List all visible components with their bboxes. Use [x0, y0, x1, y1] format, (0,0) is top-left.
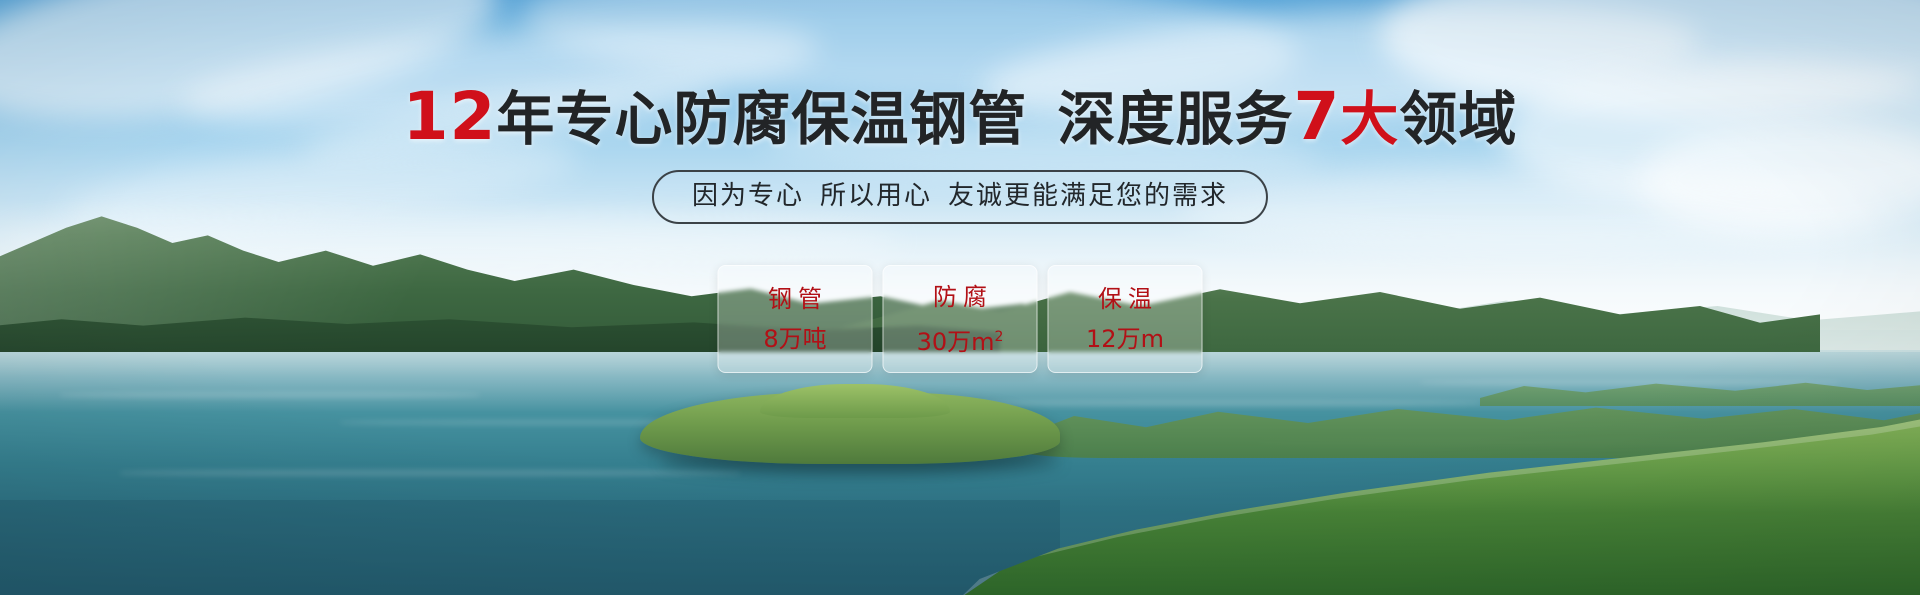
stat-card-label: 保温 [1092, 286, 1158, 312]
banner-content: 12年专心防腐保温钢管深度服务7大领域 因为专心所以用心友诚更能满足您的需求 钢… [0, 0, 1920, 595]
stat-card-insulation[interactable]: 保温 12万m [1048, 265, 1203, 373]
stat-card-value: 8万吨 [763, 326, 826, 352]
headline-years-number: 12 [403, 78, 497, 155]
stat-card-anticorrosion[interactable]: 防腐 30万m2 [883, 265, 1038, 373]
stat-card-steel-pipe[interactable]: 钢管 8万吨 [718, 265, 873, 373]
promo-banner: 12年专心防腐保温钢管深度服务7大领域 因为专心所以用心友诚更能满足您的需求 钢… [0, 0, 1920, 595]
subtitle-pill: 因为专心所以用心友诚更能满足您的需求 [652, 170, 1268, 224]
stat-card-label: 防腐 [927, 284, 993, 310]
stat-value-main: 30万m [917, 328, 995, 356]
headline-phrase-tail: 领域 [1399, 85, 1517, 153]
stat-value-main: 8万吨 [763, 325, 826, 353]
stat-value-main: 12万m [1086, 325, 1164, 353]
stat-value-exponent: 2 [995, 329, 1004, 345]
subtitle-part-2: 所以用心 [820, 181, 932, 211]
headline: 12年专心防腐保温钢管深度服务7大领域 [0, 86, 1920, 150]
stat-card-label: 钢管 [762, 286, 828, 312]
stat-card-value: 30万m2 [917, 324, 1004, 355]
stat-card-value: 12万m [1086, 326, 1164, 352]
headline-phrase-secondary: 深度服务 [1057, 85, 1293, 153]
headline-fields-number: 7 [1293, 78, 1340, 155]
headline-fields-unit: 大 [1340, 85, 1399, 153]
subtitle-part-3: 友诚更能满足您的需求 [948, 181, 1228, 211]
stat-card-group: 钢管 8万吨 防腐 30万m2 保温 12万m [718, 265, 1203, 373]
subtitle-part-1: 因为专心 [692, 181, 804, 211]
headline-phrase-primary: 年专心防腐保温钢管 [496, 85, 1027, 153]
